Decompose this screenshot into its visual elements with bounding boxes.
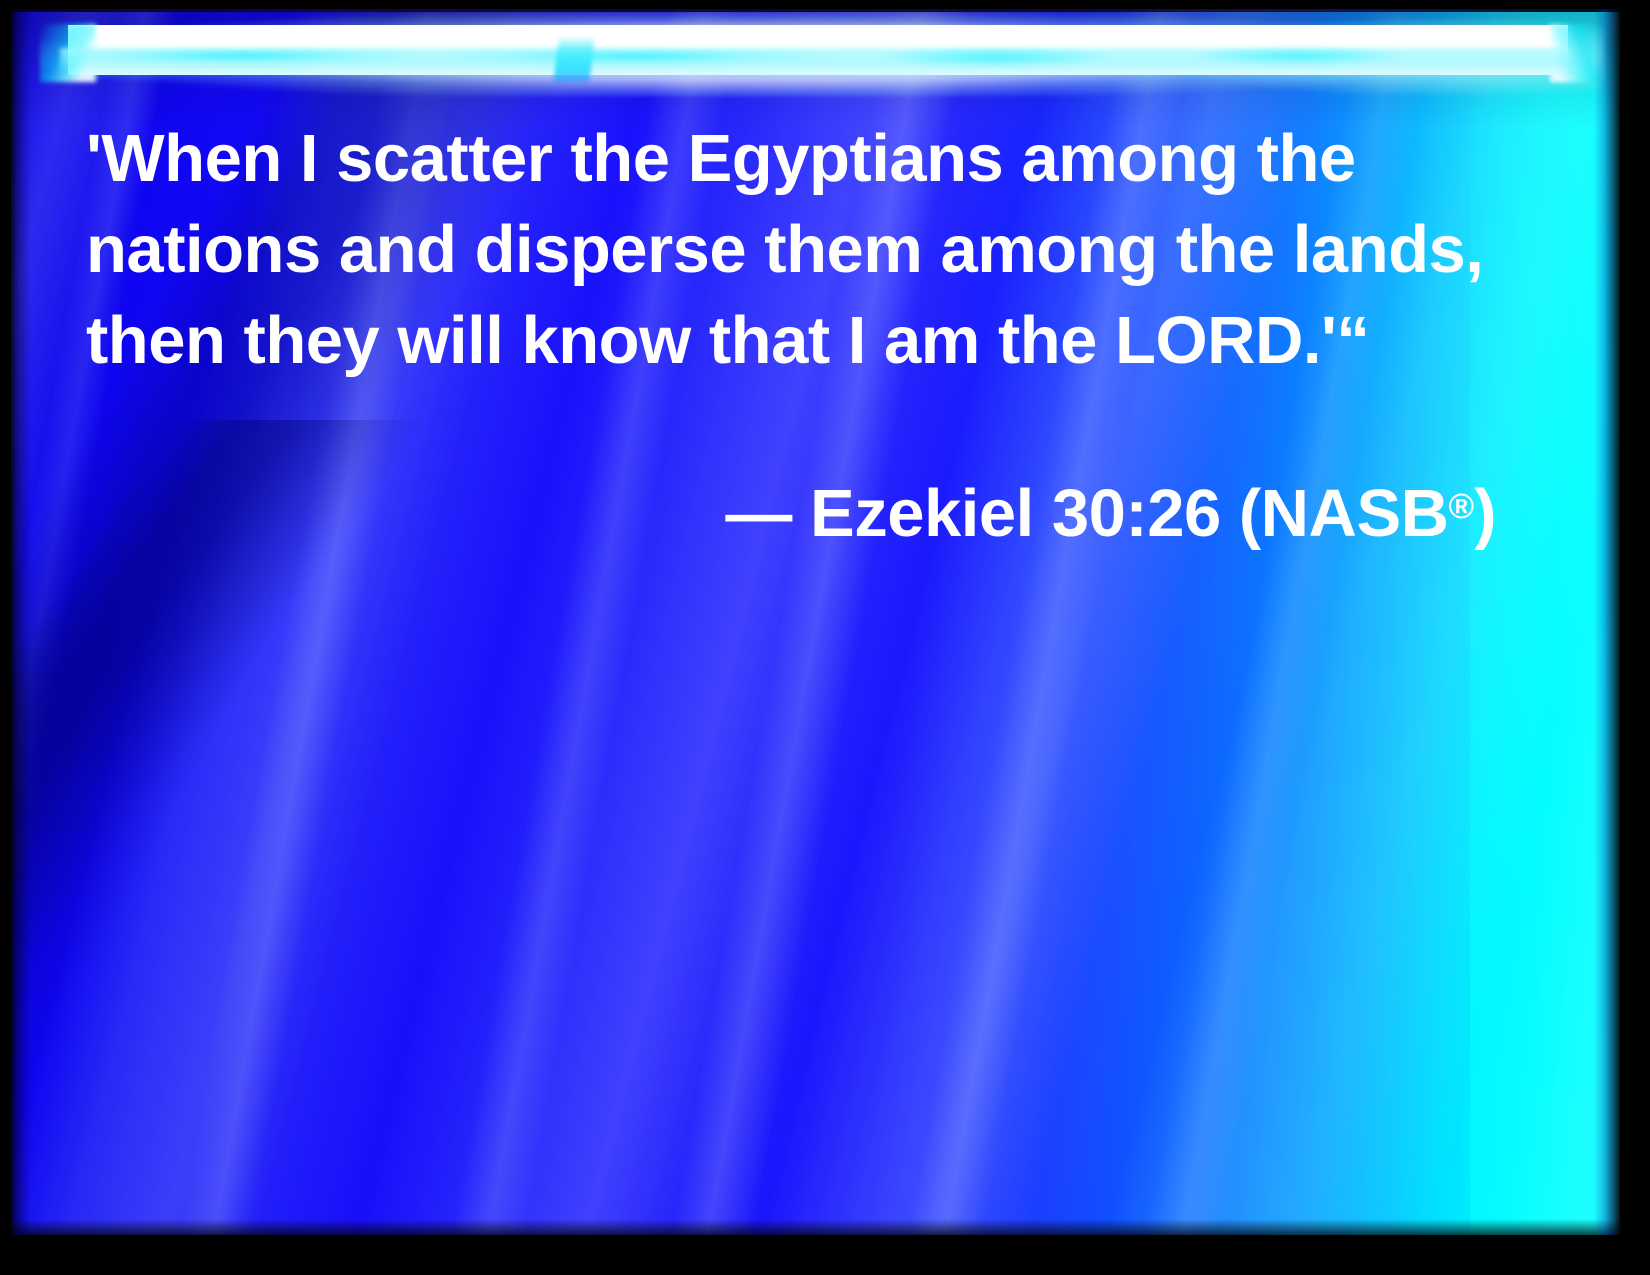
attribution-book: Ezekiel <box>810 476 1034 551</box>
verse-text: 'When I scatter the Egyptians among the … <box>86 113 1486 386</box>
attribution-reference: 30:26 <box>1052 476 1221 551</box>
attribution-paren-close: ) <box>1474 476 1496 551</box>
registered-trademark-icon: ® <box>1449 487 1475 526</box>
attribution-dash: — <box>725 476 792 551</box>
verse-attribution: — Ezekiel 30:26 (NASB®) <box>86 464 1496 557</box>
scripture-slide: 'When I scatter the Egyptians among the … <box>0 0 1650 1275</box>
text-layer: 'When I scatter the Egyptians among the … <box>0 0 1650 1275</box>
attribution-translation: (NASB <box>1239 476 1449 551</box>
